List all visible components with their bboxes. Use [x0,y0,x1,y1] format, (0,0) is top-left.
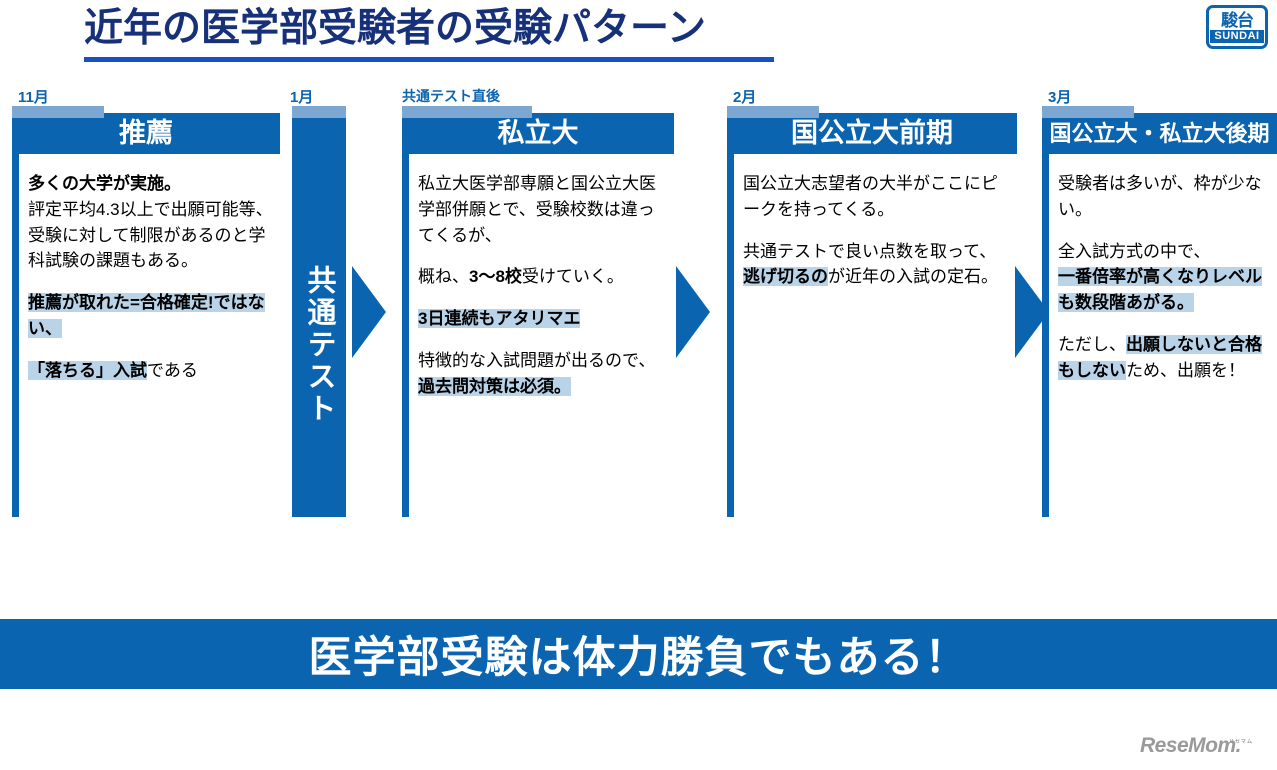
watermark-tiny-text: リセマム [1229,739,1253,745]
card-body-4: 受験者は多いが、枠が少ない。全入試方式の中で、一番倍率が高くなりレベルも数段階あ… [1042,154,1277,517]
text-run: 評定平均4.3以上で出願可能等、受験に対して制限があるのと学科試験の課題もある。 [28,200,273,271]
title-underline [84,57,774,62]
text-run: 全入試方式の中で、 [1058,242,1210,261]
card-header-0: 推薦 [12,113,280,154]
card-paragraph: 3日連続もアタリマエ [418,306,668,332]
flow-arrow-3 [1015,266,1049,358]
card-body-2: 私立大医学部専願と国公立大医学部併願とで、受験校数は違ってくるが、概ね、3～8校… [402,154,674,517]
month-label-3: 2月 [733,86,756,107]
card-paragraph: 受験者は多いが、枠が少ない。 [1058,171,1271,223]
sundai-logo-jp: 駿台 [1221,12,1253,29]
card-header-2: 私立大 [402,113,674,154]
summary-banner-text: 医学部受験は体力勝負でもある！ [309,623,969,685]
text-run: 「落ちる」入試 [28,361,147,380]
card-paragraph: 国公立大志望者の大半がここにピークを持ってくる。 [743,171,1011,223]
card-body-3: 国公立大志望者の大半がここにピークを持ってくる。共通テストで良い点数を取って、逃… [727,154,1017,517]
card-paragraph: 私立大医学部専願と国公立大医学部併願とで、受験校数は違ってくるが、 [418,171,668,248]
text-run: である [147,361,198,380]
card-kokkoritsu-zenki: 国公立大前期 国公立大志望者の大半がここにピークを持ってくる。共通テストで良い点… [727,113,1017,517]
text-run: 国公立大志望者の大半がここにピークを持ってくる。 [743,174,998,219]
text-run: ため、出願を！ [1126,361,1245,380]
card-paragraph: 多くの大学が実施。評定平均4.3以上で出願可能等、受験に対して制限があるのと学科… [28,171,274,274]
card-header-3: 国公立大前期 [727,113,1017,154]
card-header-4: 国公立大・私立大後期 [1042,113,1277,154]
month-tab-3 [727,106,819,118]
text-run: 3～8校 [469,267,522,286]
text-run: 一番倍率が高くなりレベルも数段階あがる。 [1058,267,1262,312]
resemom-watermark: ReseMom.リセマム [1140,735,1265,756]
month-label-4: 3月 [1048,86,1071,107]
text-run: 逃げ切るの [743,267,828,286]
page-title: 近年の医学部受験者の受験パターン [84,6,706,53]
kyotsu-test-vertical-label: 共通テスト [292,113,346,517]
month-tab-2 [402,106,532,118]
card-paragraph: 概ね、3～8校受けていく。 [418,264,668,290]
card-paragraph: 「落ちる」入試である [28,358,274,384]
month-label-0: 11月 [18,86,49,107]
text-run: 特徴的な入試問題が出るので、 [418,351,655,370]
text-run: 共通テストで良い点数を取って、 [743,242,996,261]
flow-arrow-1 [352,266,386,358]
month-tab-1 [292,106,346,118]
text-run: 受けていく。 [522,267,624,286]
card-paragraph: 特徴的な入試問題が出るので、過去問対策は必須。 [418,348,668,400]
card-paragraph: ただし、出願しないと合格もしないため、出願を！ [1058,332,1271,384]
text-run: が近年の入試の定石。 [828,267,998,286]
watermark-text: ReseMom. [1140,734,1241,757]
text-run: 多くの大学が実施。 [28,174,181,193]
text-run: 3日連続もアタリマエ [418,309,580,328]
text-run: 受験者は多いが、枠が少ない。 [1058,174,1262,219]
card-shiritsu: 私立大 私立大医学部専願と国公立大医学部併願とで、受験校数は違ってくるが、概ね、… [402,113,674,517]
card-body-0: 多くの大学が実施。評定平均4.3以上で出願可能等、受験に対して制限があるのと学科… [12,154,280,517]
sundai-logo-en: SUNDAI [1210,30,1263,43]
card-suisen: 推薦 多くの大学が実施。評定平均4.3以上で出願可能等、受験に対して制限があるの… [12,113,280,517]
text-run: ただし、 [1058,335,1126,354]
card-paragraph: 推薦が取れた=合格確定!ではない、 [28,290,274,342]
exam-timeline: 11月 推薦 多くの大学が実施。評定平均4.3以上で出願可能等、受験に対して制限… [0,86,1277,531]
month-label-2: 共通テスト直後 [402,86,500,106]
title-bar: 近年の医学部受験者の受験パターン [0,0,1277,72]
text-run: 過去問対策は必須。 [418,377,571,396]
card-kouki: 国公立大・私立大後期 受験者は多いが、枠が少ない。全入試方式の中で、一番倍率が高… [1042,113,1277,517]
month-tab-4 [1042,106,1134,118]
text-run: 概ね、 [418,267,469,286]
month-tab-0 [12,106,104,118]
card-paragraph: 共通テストで良い点数を取って、逃げ切るのが近年の入試の定石。 [743,239,1011,291]
card-paragraph: 全入試方式の中で、一番倍率が高くなりレベルも数段階あがる。 [1058,239,1271,316]
sundai-logo: 駿台 SUNDAI [1206,5,1268,49]
flow-arrow-2 [676,266,710,358]
month-label-1: 1月 [290,86,313,107]
text-run: 私立大医学部専願と国公立大医学部併願とで、受験校数は違ってくるが、 [418,174,656,245]
text-run: 推薦が取れた=合格確定!ではない、 [28,293,265,338]
summary-banner: 医学部受験は体力勝負でもある！ [0,619,1277,689]
